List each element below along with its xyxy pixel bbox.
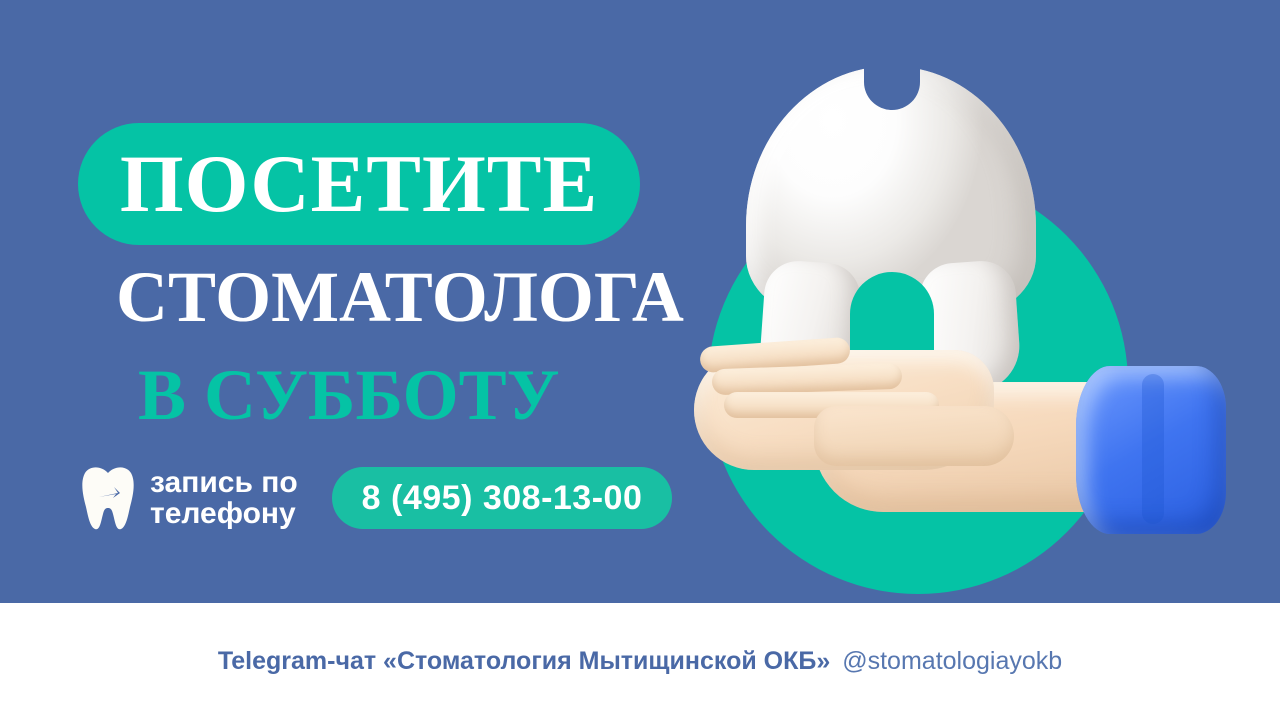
- tooth-cusp-notch: [864, 56, 920, 110]
- sleeve-fold: [1142, 374, 1164, 524]
- tooth-icon: [80, 465, 136, 531]
- contact-label: запись по телефону: [150, 467, 298, 530]
- telegram-chat-title: Telegram-чат «Стоматология Мытищинской О…: [218, 647, 830, 676]
- headline-block: ПОСЕТИТЕ СТОМАТОЛОГА В СУББОТУ: [78, 123, 718, 431]
- headline-line-1: ПОСЕТИТЕ: [120, 143, 598, 225]
- tooth-in-hand-illustration: [686, 44, 1246, 589]
- headline-line-3: В СУББОТУ: [138, 359, 718, 431]
- footer-bar: Telegram-чат «Стоматология Мытищинской О…: [0, 603, 1280, 720]
- headline-pill: ПОСЕТИТЕ: [78, 123, 640, 245]
- open-hand-graphic: [694, 340, 1164, 540]
- phone-button[interactable]: 8 (495) 308-13-00: [332, 467, 673, 529]
- poster-main-panel: ПОСЕТИТЕ СТОМАТОЛОГА В СУББОТУ запись по…: [0, 0, 1280, 603]
- contact-row: запись по телефону 8 (495) 308-13-00: [80, 465, 672, 531]
- headline-line-2: СТОМАТОЛОГА: [116, 261, 718, 333]
- promo-poster: ПОСЕТИТЕ СТОМАТОЛОГА В СУББОТУ запись по…: [0, 0, 1280, 720]
- footer-content: Telegram-чат «Стоматология Мытищинской О…: [218, 647, 1062, 676]
- phone-number: 8 (495) 308-13-00: [362, 479, 643, 518]
- telegram-handle[interactable]: @stomatologiayokb: [842, 647, 1062, 676]
- thumb: [814, 406, 1014, 466]
